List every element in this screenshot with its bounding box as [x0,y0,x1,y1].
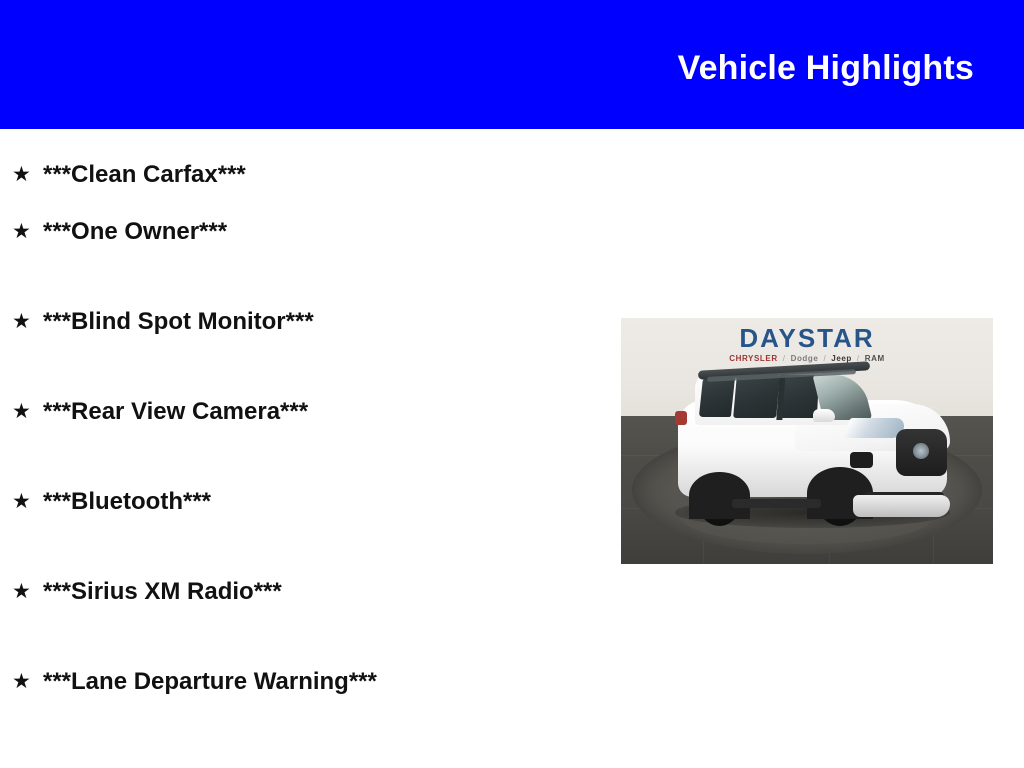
star-icon: ★ [12,219,43,245]
list-item: ★ ***One Owner*** [0,219,610,309]
list-item: ★ ***Blind Spot Monitor*** [0,309,610,399]
star-icon: ★ [12,489,43,515]
star-icon: ★ [12,669,43,695]
highlight-label: ***Rear View Camera*** [43,399,308,425]
rear-door-window [733,375,780,418]
front-grille [896,429,948,476]
rocker-panel [732,499,821,508]
highlight-label: ***Bluetooth*** [43,489,211,515]
list-item: ★ ***Lane Departure Warning*** [0,669,610,759]
list-item: ★ ***Sirius XM Radio*** [0,579,610,669]
star-icon: ★ [12,579,43,605]
highlight-label: ***One Owner*** [43,219,227,245]
star-icon: ★ [12,309,43,335]
vehicle-photo[interactable]: DAYSTAR CHRYSLER / Dodge / Jeep / RAM [621,318,993,564]
list-item: ★ ***Rear View Camera*** [0,399,610,489]
highlight-label: ***Blind Spot Monitor*** [43,309,314,335]
front-skid-plate [853,495,950,517]
list-item: ★ ***Bluetooth*** [0,489,610,579]
highlight-label: ***Clean Carfax*** [43,162,246,188]
list-item: ★ ***Clean Carfax*** [0,129,610,219]
rear-wheel-arch [689,472,749,519]
tail-light [675,411,686,425]
fog-light [850,452,873,468]
highlight-label: ***Sirius XM Radio*** [43,579,282,605]
vehicle-highlights-list: ★ ***Clean Carfax*** ★ ***One Owner*** ★… [0,129,610,759]
page-title: Vehicle Highlights [678,51,1024,85]
vehicle-illustration [669,350,955,530]
rear-quarter-window [699,377,735,417]
page-header: Vehicle Highlights [0,0,1024,129]
side-mirror [813,409,836,422]
star-icon: ★ [12,399,43,425]
highlight-label: ***Lane Departure Warning*** [43,669,377,695]
star-icon: ★ [12,162,43,188]
